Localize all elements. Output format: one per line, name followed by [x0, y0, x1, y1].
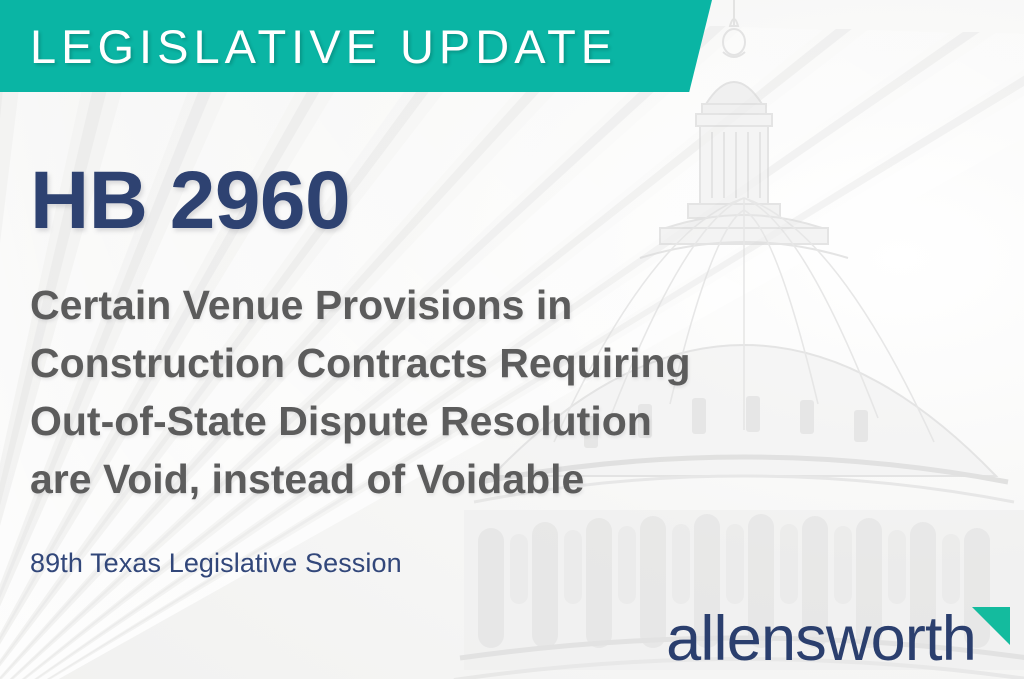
- allensworth-wordmark: allensworth: [666, 608, 976, 671]
- bill-title-line-1: Certain Venue Provisions in: [30, 276, 820, 334]
- allensworth-triangle-mark-icon: [972, 607, 1010, 645]
- session-label: 89th Texas Legislative Session: [30, 548, 830, 578]
- bill-title-line-3: Out-of-State Dispute Resolution: [30, 392, 820, 450]
- bill-title-line-2: Construction Contracts Requiring: [30, 334, 820, 392]
- bill-title-line-4: are Void, instead of Voidable: [30, 450, 820, 508]
- banner-label: LEGISLATIVE UPDATE: [30, 0, 617, 92]
- allensworth-logo: allensworth: [666, 607, 1010, 671]
- legislative-update-card: LEGISLATIVE UPDATE HB 2960 Certain Venue…: [0, 0, 1024, 679]
- bill-number: HB 2960: [30, 160, 830, 242]
- content-block: HB 2960 Certain Venue Provisions in Cons…: [30, 92, 830, 578]
- bill-title: Certain Venue Provisions in Construction…: [30, 276, 820, 508]
